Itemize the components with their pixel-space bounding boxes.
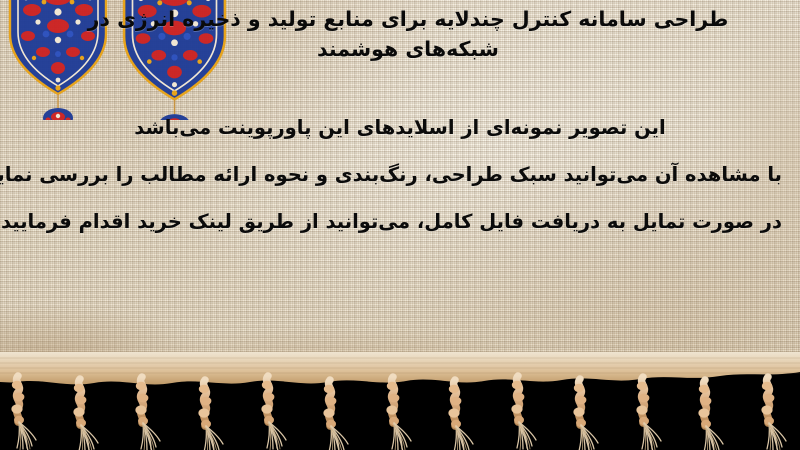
carpet-fringe-tassels <box>0 352 800 450</box>
title-line-2: شبکه‌های هوشمند <box>38 34 778 64</box>
body-line-1: این تصویر نمونه‌ای از اسلایدهای این پاور… <box>18 104 782 151</box>
text-layer: طراحی سامانه کنترل چندلایه برای منابع تو… <box>0 0 800 378</box>
title-line-1: طراحی سامانه کنترل چندلایه برای منابع تو… <box>38 4 778 34</box>
body-text-block: این تصویر نمونه‌ای از اسلایدهای این پاور… <box>18 104 782 246</box>
page-title: طراحی سامانه کنترل چندلایه برای منابع تو… <box>38 4 778 64</box>
tassel-row <box>11 376 786 450</box>
body-line-2: با مشاهده آن می‌توانید سبک طراحی، رنگ‌بن… <box>18 151 782 198</box>
fringe-svg <box>0 352 800 450</box>
slide-canvas: طراحی سامانه کنترل چندلایه برای منابع تو… <box>0 0 800 450</box>
body-line-3: در صورت تمایل به دریافت فایل کامل، می‌تو… <box>18 198 782 245</box>
